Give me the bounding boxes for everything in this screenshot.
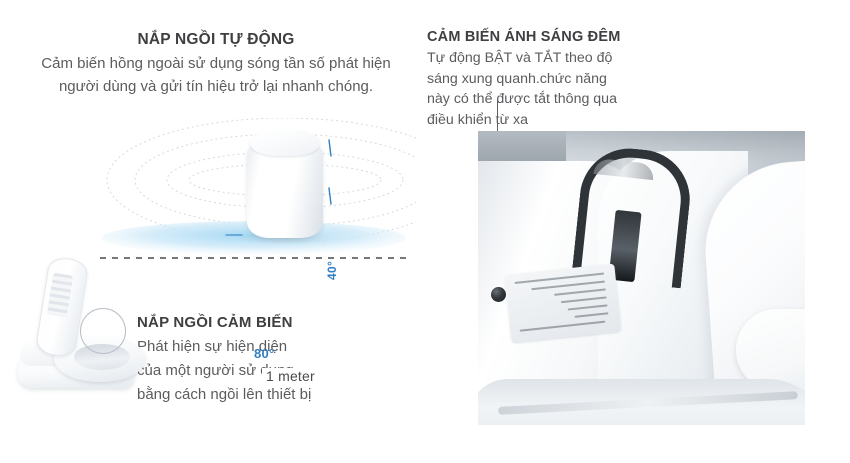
night-light-body: Tự động BẬT và TẮT theo độ sáng xung qua… bbox=[427, 48, 642, 130]
detection-distance-label: 1 meter bbox=[262, 368, 319, 384]
toilet-open-lid-illustration bbox=[14, 258, 146, 388]
auto-lid-heading: NẮP NGỒI TỰ ĐỘNG bbox=[18, 30, 414, 50]
toilet-lid bbox=[250, 130, 320, 156]
seat-sensor-heading: NẮP NGỒI CẢM BIẾN bbox=[137, 312, 343, 333]
toilet-body bbox=[247, 144, 323, 238]
night-light-body-line-2: sáng xung quanh.chức năng bbox=[427, 69, 642, 90]
night-light-body-line-3: này có thể được tắt thông qua bbox=[427, 89, 642, 110]
auto-lid-body-line-1: Cảm biến hồng ngoài sử dụng sóng tần số … bbox=[18, 52, 414, 75]
night-light-heading: CẢM BIẾN ÁNH SÁNG ĐÊM bbox=[427, 28, 642, 47]
photo-label-plate bbox=[505, 263, 622, 342]
vertical-angle-label: 40° bbox=[325, 261, 339, 280]
infrared-detection-diagram: 40° 80° 1 meter bbox=[86, 118, 416, 278]
infographic-page: NẮP NGỒI TỰ ĐỘNG Cảm biến hồng ngoài sử … bbox=[0, 0, 850, 463]
text-block-seat-sensor: NẮP NGỒI CẢM BIẾN Phát hiện sự hiện diện… bbox=[137, 312, 343, 407]
night-light-body-line-4: điều khiển từ xa bbox=[427, 110, 642, 131]
auto-lid-body-line-2: người dùng và gửi tín hiệu trở lại nhanh… bbox=[18, 75, 414, 98]
night-light-sensor-dot bbox=[491, 287, 506, 302]
seat-sensor-body-line-1: Phát hiện sự hiện diện bbox=[137, 335, 343, 359]
seat-sensor-highlight-circle bbox=[80, 308, 126, 354]
night-light-body-line-1: Tự động BẬT và TẮT theo độ bbox=[427, 48, 642, 69]
seat-sensor-body-line-3: bằng cách ngồi lên thiết bị bbox=[137, 383, 343, 407]
night-light-sensor-photo bbox=[478, 131, 805, 425]
horizontal-angle-label: 80° bbox=[254, 346, 275, 361]
text-block-auto-lid: NẮP NGỒI TỰ ĐỘNG Cảm biến hồng ngoài sử … bbox=[18, 30, 414, 98]
text-block-night-light: CẢM BIẾN ÁNH SÁNG ĐÊM Tự động BẬT và TẮT… bbox=[427, 28, 642, 130]
auto-lid-body: Cảm biến hồng ngoài sử dụng sóng tần số … bbox=[18, 52, 414, 98]
